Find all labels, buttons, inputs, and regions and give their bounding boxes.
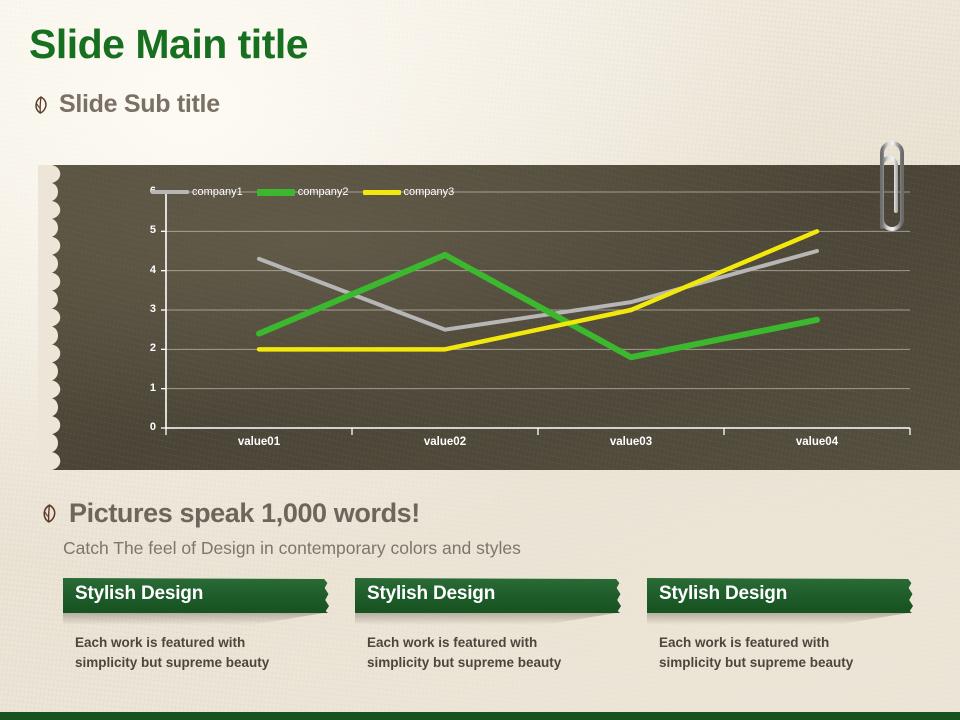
y-axis-tick-label: 5: [134, 224, 156, 236]
card-banner-shadow: [355, 613, 616, 625]
x-axis-tick-label: value03: [581, 436, 681, 448]
leaf-icon: [39, 503, 60, 524]
card-body-text: Each work is featured with simplicity bu…: [63, 633, 335, 672]
card-banner-shadow: [63, 613, 324, 625]
pictures-heading-row: Pictures speak 1,000 words!: [39, 498, 420, 529]
pictures-subheading: Catch The feel of Design in contemporary…: [63, 538, 521, 559]
chart-axes: [161, 192, 910, 435]
chart-series: [259, 231, 817, 357]
page-title: Slide Main title: [29, 21, 308, 68]
x-axis-tick-label: value02: [395, 436, 495, 448]
card-banner: Stylish Design: [647, 578, 919, 613]
y-axis-tick-label: 1: [134, 382, 156, 394]
cards-row: Stylish DesignEach work is featured with…: [63, 578, 923, 678]
paperclip-icon: [868, 131, 916, 241]
y-axis-tick-label: 2: [134, 342, 156, 354]
legend-label: company1: [192, 186, 243, 198]
chart-legend: company1company2company3: [151, 186, 454, 198]
feature-card[interactable]: Stylish DesignEach work is featured with…: [63, 578, 335, 672]
legend-swatch-company1: [151, 190, 189, 194]
leaf-icon: [31, 95, 51, 115]
card-title: Stylish Design: [659, 583, 787, 605]
feature-card[interactable]: Stylish DesignEach work is featured with…: [355, 578, 627, 672]
bottom-accent-bar: [0, 712, 960, 720]
chart-panel: 0123456 value01value02value03value04 com…: [38, 165, 960, 470]
legend-entry-company2[interactable]: company2: [257, 186, 349, 198]
legend-entry-company1[interactable]: company1: [151, 186, 243, 198]
line-chart: [38, 165, 960, 470]
card-banner: Stylish Design: [355, 578, 627, 613]
pictures-heading: Pictures speak 1,000 words!: [69, 498, 420, 529]
legend-entry-company3[interactable]: company3: [363, 186, 455, 198]
slide-subtitle: Slide Sub title: [59, 90, 220, 119]
legend-swatch-company2: [257, 189, 295, 196]
legend-swatch-company3: [363, 190, 401, 195]
card-banner-shadow: [647, 613, 908, 625]
x-axis-tick-label: value04: [767, 436, 867, 448]
y-axis-tick-label: 3: [134, 303, 156, 315]
y-axis-tick-label: 4: [134, 264, 156, 276]
card-body-text: Each work is featured with simplicity bu…: [647, 633, 919, 672]
legend-label: company3: [404, 186, 455, 198]
card-banner: Stylish Design: [63, 578, 335, 613]
x-axis-tick-label: value01: [209, 436, 309, 448]
card-title: Stylish Design: [367, 583, 495, 605]
feature-card[interactable]: Stylish DesignEach work is featured with…: [647, 578, 919, 672]
card-title: Stylish Design: [75, 583, 203, 605]
slide-subtitle-row: Slide Sub title: [31, 90, 220, 119]
y-axis-tick-label: 0: [134, 421, 156, 433]
card-body-text: Each work is featured with simplicity bu…: [355, 633, 627, 672]
series-line-company1: [259, 251, 817, 330]
chart-gridlines: [166, 192, 910, 389]
legend-label: company2: [298, 186, 349, 198]
